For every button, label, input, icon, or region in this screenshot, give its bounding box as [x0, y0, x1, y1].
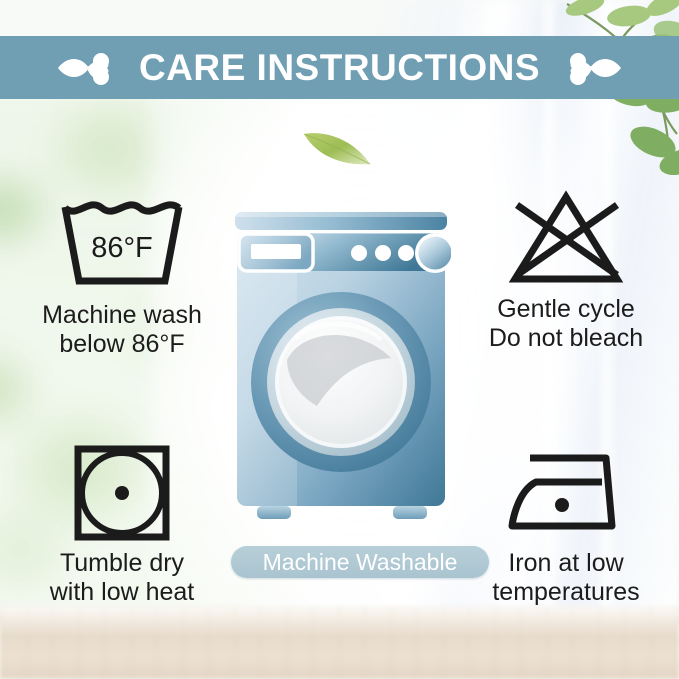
care-item-do-not-bleach: Gentle cycle Do not bleach: [460, 186, 672, 353]
table-wood-grain: [0, 607, 679, 679]
machine-top-lid: [235, 212, 447, 230]
fleur-de-lis-ornament-left-icon: [55, 46, 117, 90]
wash-tub-symbol-icon: 86°F: [59, 199, 185, 291]
care-item-label-iron: Iron at low temperatures: [460, 549, 672, 607]
iron-low-temperature-symbol-icon: [506, 450, 626, 536]
washing-machine-illustration: [231, 210, 451, 532]
indicator-light-1[interactable]: [351, 245, 367, 261]
fleur-de-lis-ornament-right-icon: [562, 46, 624, 90]
wash-temperature-value: 86°F: [91, 232, 153, 264]
care-item-label-machine-wash: Machine wash below 86°F: [22, 301, 222, 359]
care-item-machine-wash: 86°F Machine wash below 86°F: [22, 192, 222, 359]
machine-washable-badge: Machine Washable: [231, 546, 489, 578]
indicator-light-3[interactable]: [398, 245, 414, 261]
care-item-iron: Iron at low temperatures: [460, 440, 672, 607]
care-item-label-do-not-bleach: Gentle cycle Do not bleach: [460, 295, 672, 353]
do-not-bleach-triangle-symbol-icon: [507, 189, 625, 289]
machine-washable-badge-text: Machine Washable: [263, 551, 458, 574]
care-instructions-infographic: CARE INSTRUCTIONS 86°F Machine wash belo…: [0, 0, 679, 679]
floating-leaf-icon: [296, 120, 376, 172]
iron-icon-wrapper: [460, 440, 672, 545]
tumble-dry-icon-wrapper: [22, 440, 222, 545]
care-item-label-tumble-dry: Tumble dry with low heat: [22, 549, 222, 607]
detergent-drawer[interactable]: [239, 234, 313, 271]
page-title: CARE INSTRUCTIONS: [139, 49, 540, 86]
indicator-light-2[interactable]: [375, 245, 391, 261]
machine-feet: [257, 506, 427, 519]
do-not-bleach-icon-wrapper: [460, 186, 672, 291]
header-banner: CARE INSTRUCTIONS: [0, 36, 679, 99]
wash-tub-icon-wrapper: 86°F: [22, 192, 222, 297]
machine-control-panel: [239, 233, 451, 273]
care-item-tumble-dry: Tumble dry with low heat: [22, 440, 222, 607]
machine-door[interactable]: [251, 292, 431, 472]
tumble-dry-low-heat-symbol-icon: [72, 443, 172, 543]
